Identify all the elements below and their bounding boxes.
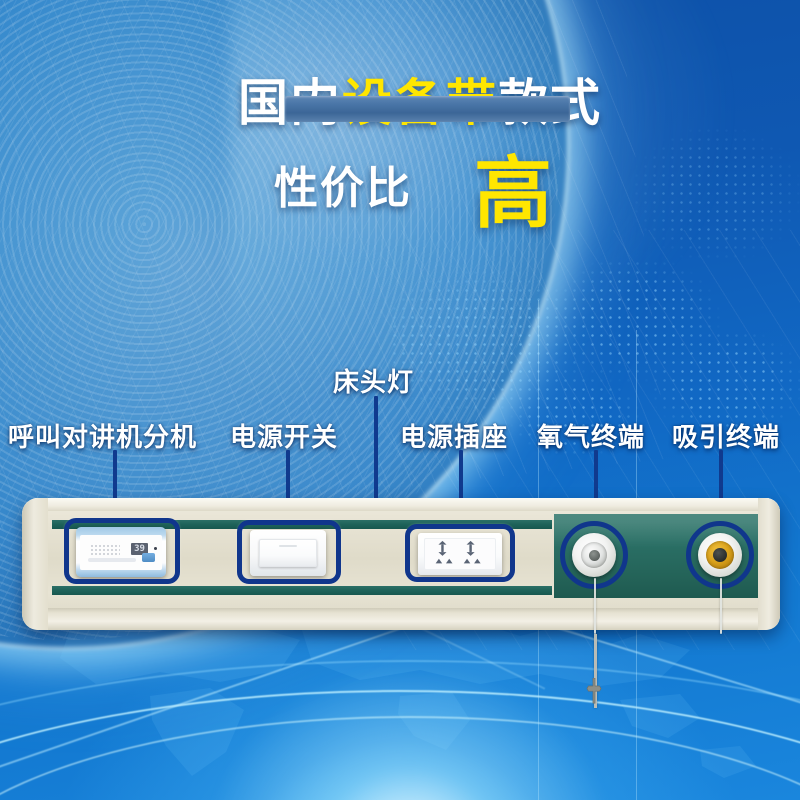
headline-line2-part2: 高: [474, 154, 552, 232]
oxygen-pull-cord: [594, 578, 596, 634]
callout-label-oxygen-terminal: 氧气终端: [537, 417, 645, 454]
panel-equipment-rail: [285, 96, 570, 122]
callout-label-power-socket: 电源插座: [400, 417, 508, 454]
panel-stripe-bottom: [52, 586, 552, 595]
suction-pull-cord: [720, 578, 722, 634]
callout-label-power-switch: 电源开关: [230, 417, 338, 454]
panel-top-edge: [22, 498, 780, 511]
poster-canvas: 国内设备带款式 性价比 高 呼叫对讲机分机 电源开关 床头灯 电源插座 氧气终端…: [0, 0, 800, 800]
headline-line2-part1: 性价比: [274, 167, 412, 211]
callout-label-intercom-extension: 呼叫对讲机分机: [8, 417, 197, 454]
panel-endcap-left: [22, 498, 48, 630]
highlight-box-power-socket: [405, 524, 515, 582]
callout-label-suction-terminal: 吸引终端: [672, 417, 780, 454]
highlight-box-power-switch: [237, 520, 341, 584]
panel-bottom-edge: [22, 608, 780, 630]
callout-label-bedside-lamp: 床头灯: [333, 362, 414, 399]
highlight-box-intercom-extension: [64, 518, 180, 584]
call-cord-pendant-icon[interactable]: [584, 678, 604, 704]
panel-endcap-right: [758, 498, 780, 630]
headline-line-2: 性价比 高: [26, 150, 800, 228]
